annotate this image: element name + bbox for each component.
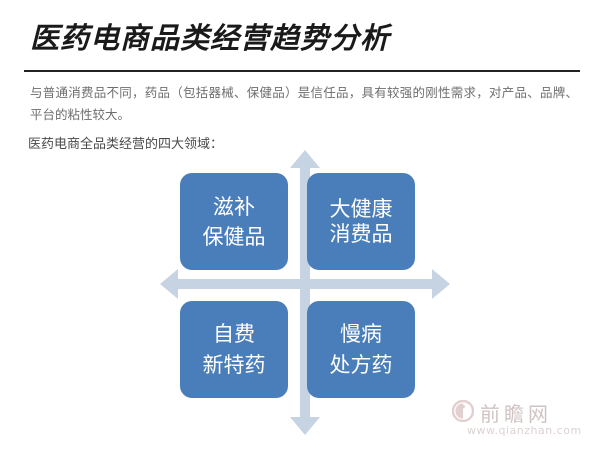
quadrant-label-line1: 大健康: [330, 197, 393, 222]
qianzhan-logo-icon: [452, 400, 474, 422]
arrow-right-icon: [432, 269, 450, 299]
quadrant-box-bottom-left[interactable]: 自费 新特药: [180, 301, 288, 398]
quadrant-label-line2: 保健品: [203, 222, 266, 252]
watermark-brand-name: 前瞻网: [480, 398, 552, 427]
quadrant-label-line2: 新特药: [203, 350, 266, 381]
quadrant-label-line1: 滋补: [213, 192, 255, 222]
quadrant-label-line1: 自费: [213, 319, 255, 350]
watermark-url: www.qianzhan.com: [467, 424, 582, 437]
quadrant-diagram: 滋补 保健品 大健康 消费品 自费 新特药 慢病 处方药: [160, 150, 450, 435]
arrow-down-icon: [290, 417, 320, 435]
quadrant-box-bottom-right[interactable]: 慢病 处方药: [307, 301, 415, 398]
arrow-up-icon: [290, 150, 320, 168]
watermark: 前瞻网 www.qianzhan.com: [452, 398, 582, 444]
quadrant-label-line2: 消费品: [330, 222, 393, 247]
intro-paragraph: 与普通消费品不同，药品（包括器械、保健品）是信任品，具有较强的刚性需求，对产品、…: [30, 82, 578, 126]
page-title: 医药电商品类经营趋势分析: [30, 22, 390, 55]
horizontal-axis: [160, 268, 450, 300]
quadrant-box-top-right[interactable]: 大健康 消费品: [307, 173, 415, 270]
quadrant-box-top-left[interactable]: 滋补 保健品: [180, 173, 288, 270]
arrow-left-icon: [160, 269, 178, 299]
title-divider: [24, 70, 580, 72]
quadrant-label-line2: 处方药: [330, 350, 393, 381]
quadrant-label-line1: 慢病: [340, 319, 382, 350]
